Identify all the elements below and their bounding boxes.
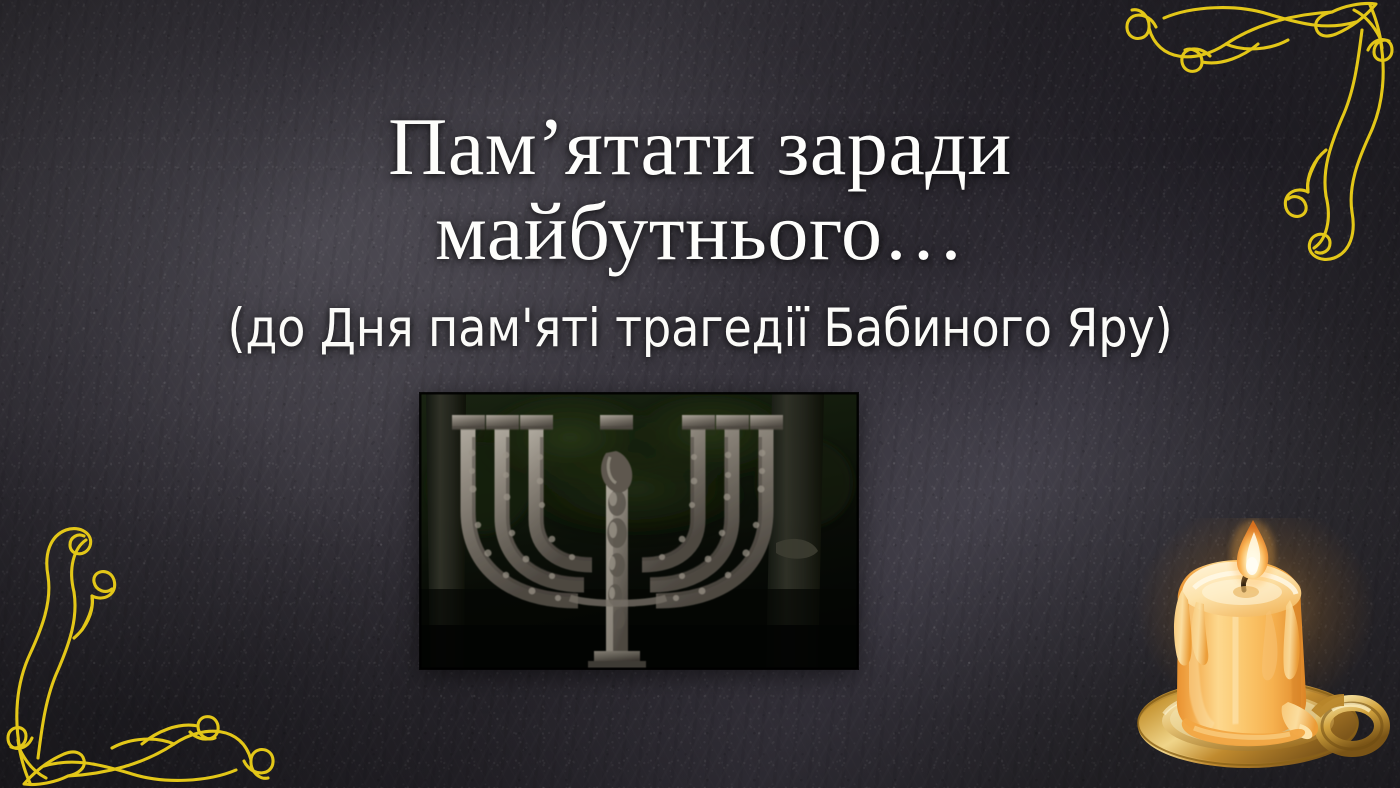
memorial-candle-illustration [1120, 518, 1398, 780]
slide-title: Пам’ятати заради майбутнього… [0, 104, 1400, 275]
title-slide: Пам’ятати заради майбутнього… (до Дня па… [0, 0, 1400, 788]
slide-subtitle: (до Дня пам'яті трагедії Бабиного Яру) [11, 302, 1390, 355]
title-line-1: Пам’ятати заради [0, 104, 1400, 189]
menorah-monument-photo [420, 393, 858, 669]
title-line-2: майбутнього… [0, 189, 1400, 274]
